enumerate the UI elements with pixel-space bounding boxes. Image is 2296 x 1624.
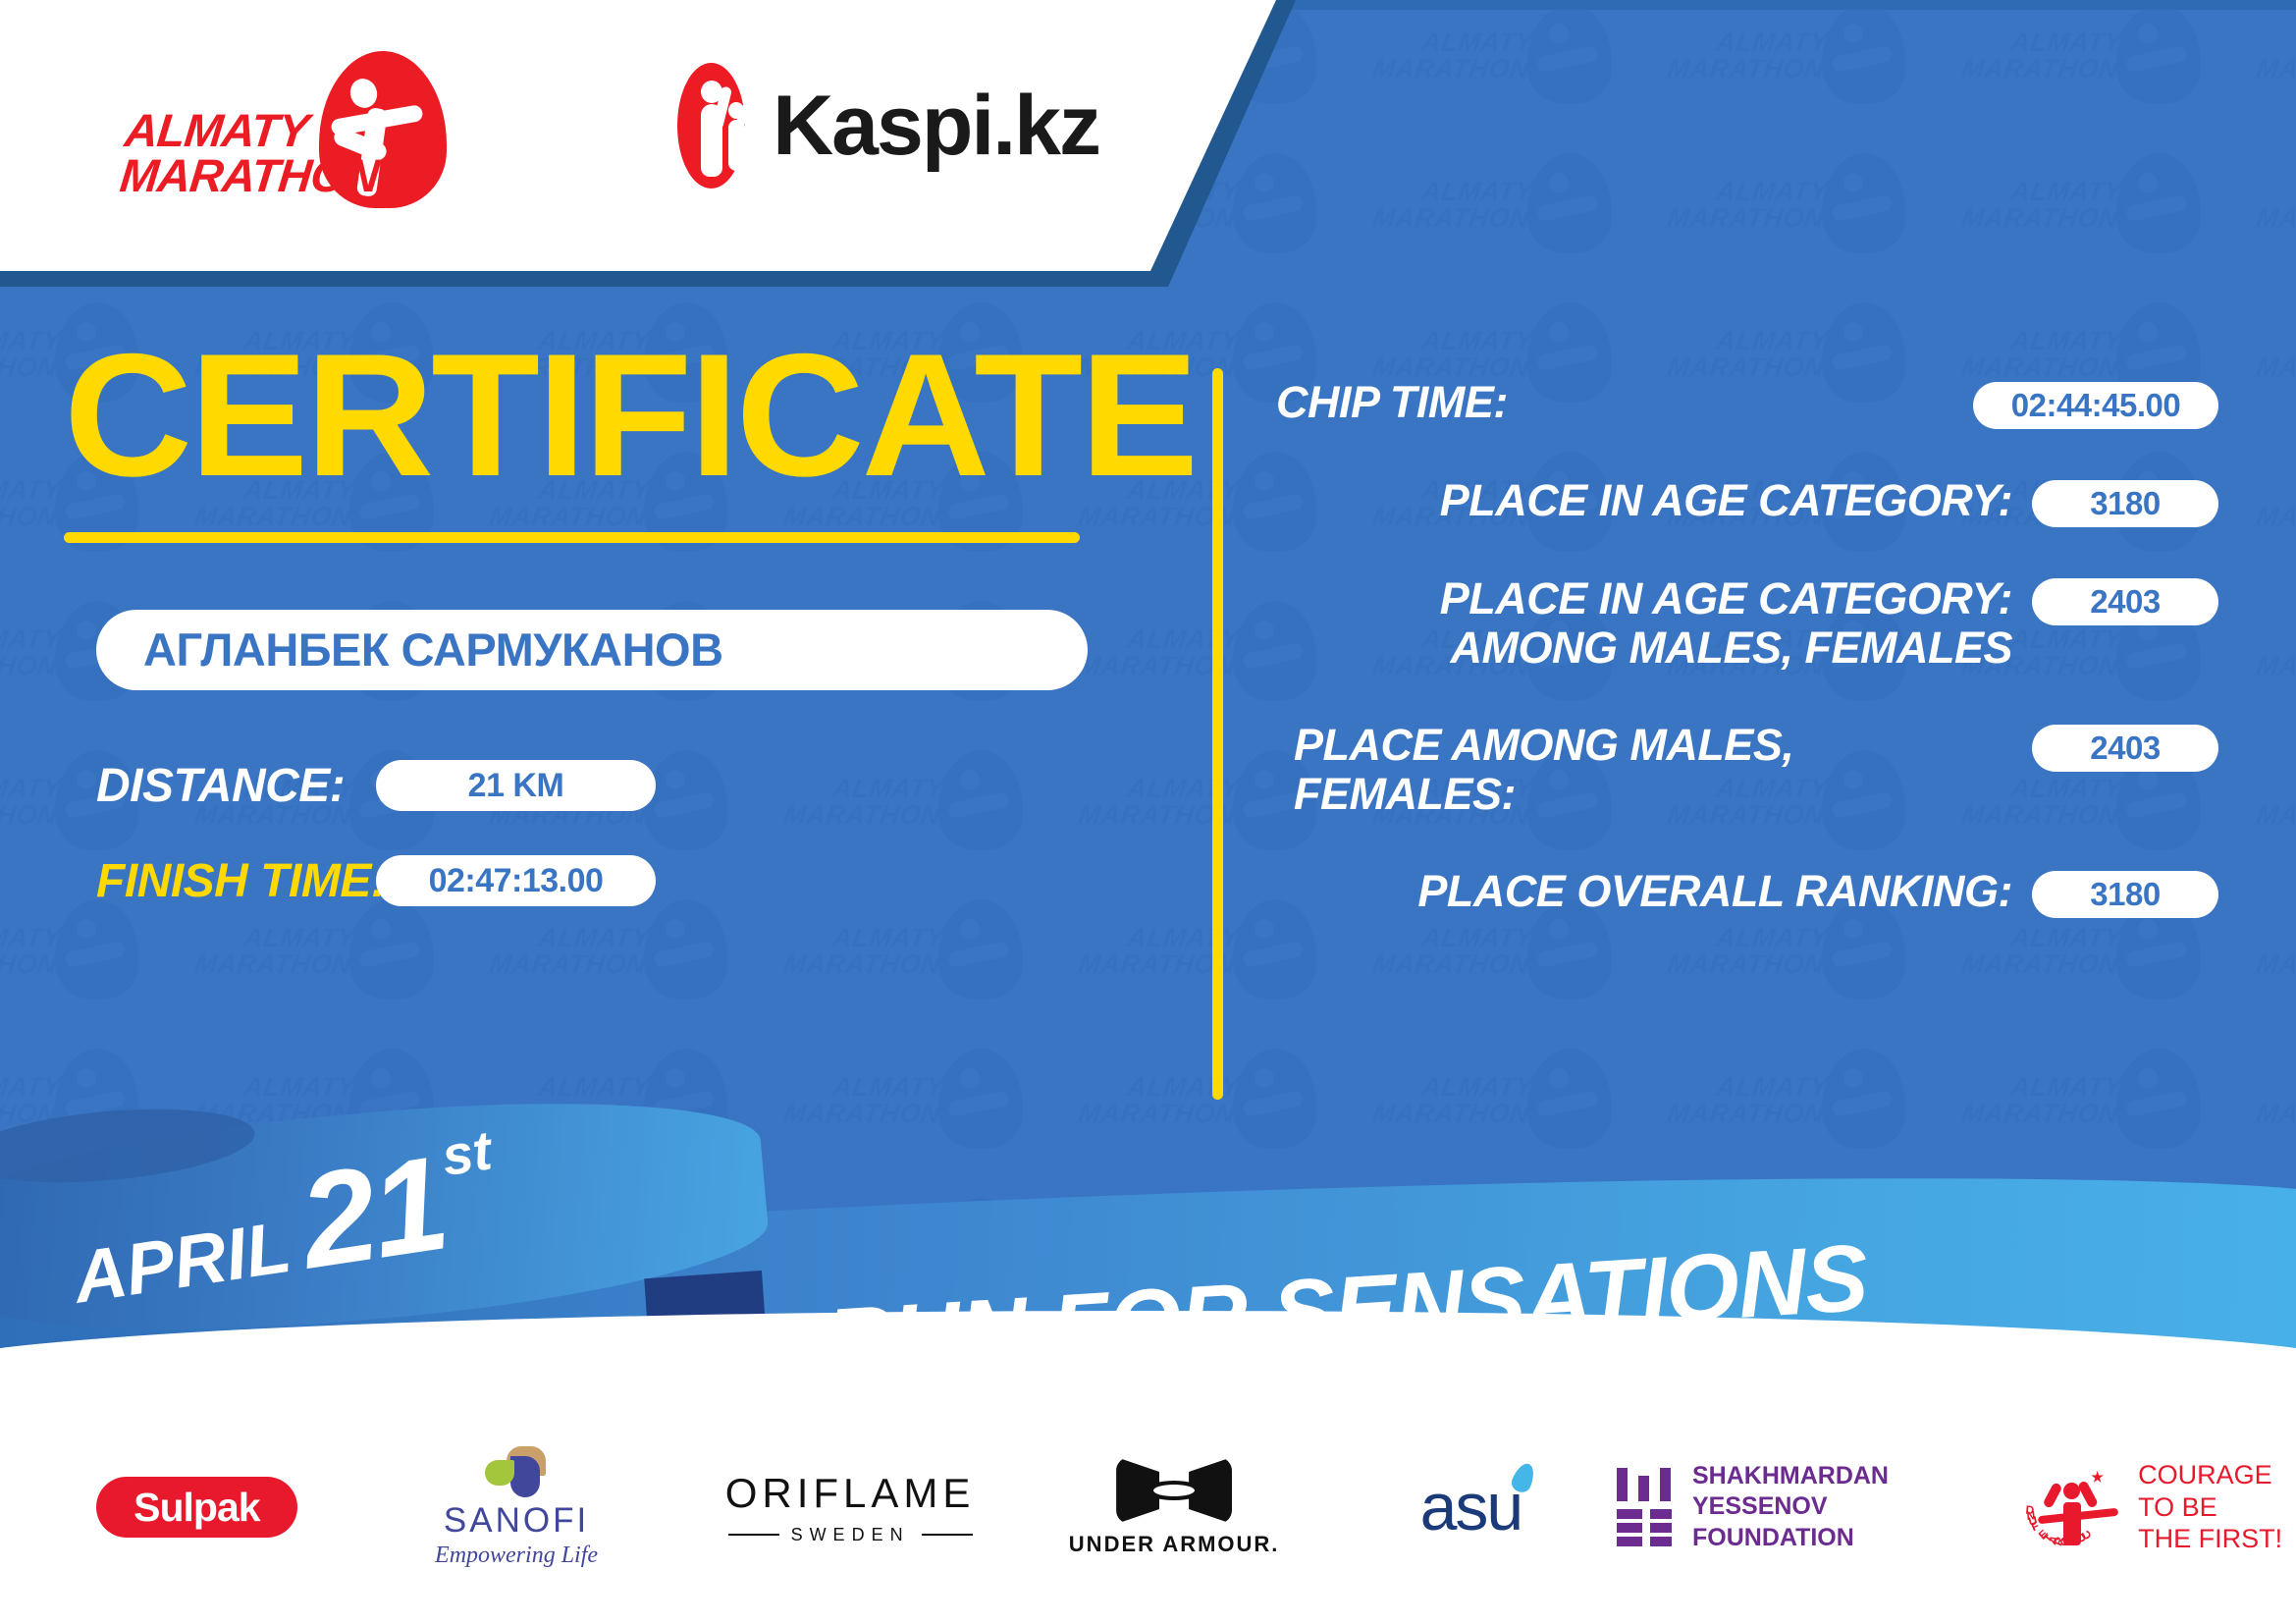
finish-time-value: 02:47:13.00 xyxy=(429,862,604,900)
yessenov-label-line1: SHAKHMARDAN YESSENOV xyxy=(1692,1461,2001,1523)
courage-label: COURAGE TO BE THE FIRST! xyxy=(2138,1459,2282,1556)
yessenov-label-line2: FOUNDATION xyxy=(1692,1523,2001,1553)
place-overall-value: 3180 xyxy=(2090,876,2160,913)
oriflame-sub-label: SWEDEN xyxy=(791,1525,910,1545)
left-column: CERTIFICATE АГЛАНБЕК САРМУКАНОВ DISTANCE… xyxy=(0,334,1207,908)
under-armour-mark-icon xyxy=(1116,1457,1232,1524)
place-among-mf-label-line1: PLACE AMONG MALES, xyxy=(1294,721,2012,770)
certificate-canvas: ALMATYMARATHONALMATYMARATHONALMATYMARATH… xyxy=(0,0,2296,1624)
oriflame-label: ORIFLAME xyxy=(725,1470,976,1517)
chip-time-label: CHIP TIME: xyxy=(1276,378,1953,427)
finish-time-value-pill: 02:47:13.00 xyxy=(376,855,656,906)
ribbon-day-suffix: st xyxy=(438,1117,496,1188)
sanofi-tagline: Empowering Life xyxy=(435,1543,598,1569)
stat-row-place-age-category: PLACE IN AGE CATEGORY: 3180 xyxy=(1276,476,2218,527)
place-among-mf-label-line2: FEMALES: xyxy=(1294,770,2012,819)
place-age-category-mf-label-line1: PLACE IN AGE CATEGORY: xyxy=(1276,574,2012,623)
arc-letter: N xyxy=(2026,1508,2036,1523)
under-armour-logo: UNDER ARMOUR. xyxy=(1069,1457,1280,1557)
stat-row-place-among-mf: PLACE AMONG MALES, FEMALES: 2403 xyxy=(1276,721,2218,820)
place-age-category-mf-value-pill: 2403 xyxy=(2032,578,2218,625)
sponsor-sanofi: SANOFI Empowering Life xyxy=(379,1446,655,1569)
sponsor-asu: asu xyxy=(1356,1469,1585,1545)
courage-runner-icon: CORPORATE FUND xyxy=(2034,1465,2124,1549)
sponsor-oriflame: ORIFLAME SWEDEN xyxy=(703,1470,996,1545)
arc-letter: A xyxy=(2046,1533,2061,1547)
sanofi-label: SANOFI xyxy=(435,1501,598,1541)
sanofi-mark-icon xyxy=(481,1446,552,1497)
sponsor-yessenov-foundation: SHAKHMARDAN YESSENOV FOUNDATION xyxy=(1615,1461,2001,1553)
place-age-category-label: PLACE IN AGE CATEGORY: xyxy=(1276,476,2012,525)
arc-letter: E xyxy=(2036,1527,2051,1543)
finish-time-row: FINISH TIME: 02:47:13.00 xyxy=(96,854,1207,908)
courage-label-line2: TO BE xyxy=(2138,1491,2282,1524)
under-armour-label: UNDER ARMOUR. xyxy=(1069,1532,1280,1557)
athlete-name: АГЛАНБЕК САРМУКАНОВ xyxy=(96,623,723,677)
courage-label-line1: COURAGE xyxy=(2138,1459,2282,1491)
place-among-mf-label: PLACE AMONG MALES, FEMALES: xyxy=(1276,721,2012,820)
oriflame-logo: ORIFLAME SWEDEN xyxy=(725,1470,976,1545)
vertical-divider xyxy=(1212,368,1223,1100)
asu-logo: asu xyxy=(1420,1469,1522,1545)
sponsor-under-armour: UNDER ARMOUR. xyxy=(1037,1457,1312,1557)
arc-letter: U xyxy=(2027,1513,2039,1529)
arc-letter: T xyxy=(2041,1531,2056,1545)
oriflame-sub-row: SWEDEN xyxy=(725,1525,976,1545)
chip-time-value: 02:44:45.00 xyxy=(2011,387,2180,424)
sponsor-strip: Sulpak SANOFI Empowering Life ORIFLAME S… xyxy=(0,1429,2296,1586)
stat-row-chip-time: CHIP TIME: 02:44:45.00 xyxy=(1276,378,2218,429)
courage-logo: CORPORATE FUND COURAGE TO BE THE FIRST! xyxy=(2034,1459,2282,1556)
sponsor-sulpak: Sulpak xyxy=(59,1477,335,1538)
distance-value: 21 KM xyxy=(468,767,564,805)
finish-time-label: FINISH TIME: xyxy=(96,854,376,908)
place-age-category-mf-label: PLACE IN AGE CATEGORY: AMONG MALES, FEMA… xyxy=(1276,574,2012,674)
place-among-mf-value-pill: 2403 xyxy=(2032,725,2218,772)
page-title: CERTIFICATE xyxy=(64,334,1230,497)
ribbon-month: APRIL xyxy=(68,1205,295,1320)
courage-label-line3: THE FIRST! xyxy=(2138,1523,2282,1555)
place-overall-value-pill: 3180 xyxy=(2032,871,2218,918)
place-overall-label: PLACE OVERALL RANKING: xyxy=(1276,867,2012,916)
yessenov-label: SHAKHMARDAN YESSENOV FOUNDATION xyxy=(1692,1461,2001,1553)
place-age-category-mf-value: 2403 xyxy=(2090,583,2160,621)
ribbon-day: 21 xyxy=(291,1126,454,1299)
distance-label: DISTANCE: xyxy=(96,759,376,813)
sanofi-logo: SANOFI Empowering Life xyxy=(435,1446,598,1569)
chip-time-value-pill: 02:44:45.00 xyxy=(1973,382,2218,429)
sulpak-logo: Sulpak xyxy=(96,1477,297,1538)
yessenov-mark-icon xyxy=(1615,1468,1671,1546)
place-age-category-value-pill: 3180 xyxy=(2032,480,2218,527)
place-among-mf-value: 2403 xyxy=(2090,730,2160,767)
distance-row: DISTANCE: 21 KM xyxy=(96,759,1207,813)
stat-row-place-age-category-mf: PLACE IN AGE CATEGORY: AMONG MALES, FEMA… xyxy=(1276,574,2218,674)
sulpak-label: Sulpak xyxy=(133,1485,259,1531)
asu-label: asu xyxy=(1420,1470,1522,1544)
title-underline xyxy=(64,532,1080,543)
arc-letter: D xyxy=(2025,1503,2035,1518)
athlete-name-field: АГЛАНБЕК САРМУКАНОВ xyxy=(96,610,1088,690)
oriflame-rule-left xyxy=(728,1534,779,1536)
yessenov-logo: SHAKHMARDAN YESSENOV FOUNDATION xyxy=(1615,1461,2001,1553)
distance-value-pill: 21 KM xyxy=(376,760,656,811)
sponsor-courage-fund: CORPORATE FUND COURAGE TO BE THE FIRST! xyxy=(2020,1459,2296,1556)
stat-row-place-overall: PLACE OVERALL RANKING: 3180 xyxy=(1276,867,2218,918)
oriflame-rule-right xyxy=(922,1534,973,1536)
stats-column: CHIP TIME: 02:44:45.00 PLACE IN AGE CATE… xyxy=(1276,378,2218,918)
place-age-category-value: 3180 xyxy=(2090,485,2160,522)
place-age-category-mf-label-line2: AMONG MALES, FEMALES xyxy=(1276,623,2012,673)
